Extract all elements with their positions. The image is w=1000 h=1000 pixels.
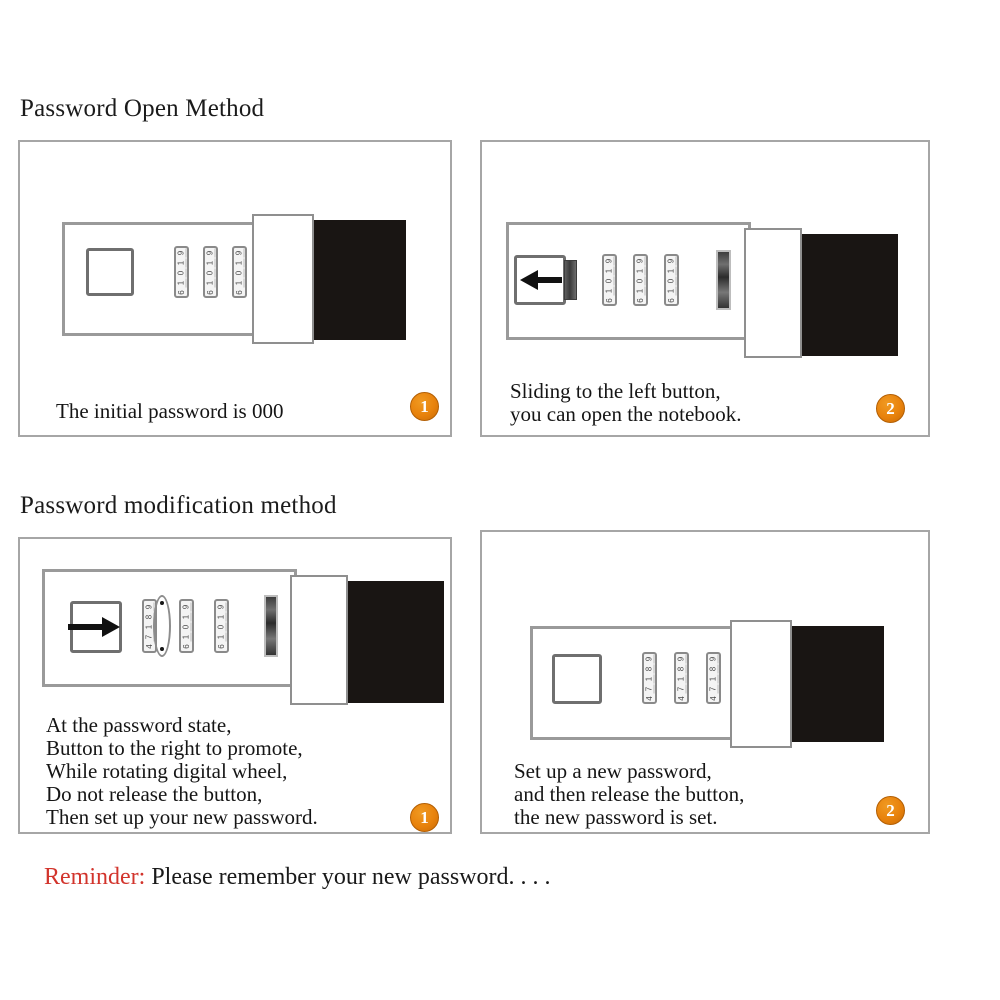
dial-digit: 9: [235, 248, 245, 257]
notebook-cover-black: [310, 220, 406, 340]
dial-digit: 9: [145, 602, 155, 611]
dial-digit: 6: [605, 296, 614, 305]
dial-digit: 1: [235, 258, 245, 267]
dial-digit: 6: [206, 288, 215, 297]
dial-digit: 4: [645, 694, 654, 703]
panel-caption: Set up a new password, and then release …: [514, 760, 744, 829]
panel-step-1-modify-password: 9 8 1 7 4 9 1 0 1 6 9 1 0 1 6: [18, 537, 452, 834]
dial-digit: 0: [177, 268, 187, 277]
dial-digit: 1: [709, 674, 719, 683]
dial-digit: 8: [677, 664, 687, 673]
dial-digit: 7: [677, 684, 687, 693]
notebook-cover-black: [788, 626, 884, 742]
dial-digit: 6: [217, 642, 226, 651]
dial-digit: 1: [177, 258, 187, 267]
lock-illustration-panel-2: 9 1 0 1 6 9 1 0 1 6 9 1 0 1 6: [506, 222, 916, 357]
notebook-cover-white-band: [730, 620, 792, 748]
dial-digit: 9: [667, 256, 677, 265]
notebook-cover-white-band: [252, 214, 314, 344]
step-badge-1: 1: [410, 803, 439, 832]
lock-latch-bar: [716, 250, 731, 310]
dial-digit: 1: [605, 286, 615, 295]
lock-illustration-panel-1: 9 1 0 1 6 9 1 0 1 6 9 1 0 1 6: [62, 214, 422, 344]
lock-illustration-panel-3: 9 8 1 7 4 9 1 0 1 6 9 1 0 1 6: [42, 569, 452, 704]
lock-slide-button[interactable]: [86, 248, 134, 296]
dial-digit: 8: [645, 664, 655, 673]
dial-digit: 7: [709, 684, 719, 693]
reminder-label: Reminder:: [44, 864, 145, 890]
dial-digit: 0: [667, 276, 677, 285]
panel-step-2-slide-left: 9 1 0 1 6 9 1 0 1 6 9 1 0 1 6 Slidi: [480, 140, 930, 437]
panel-step-1-initial-password: 9 1 0 1 6 9 1 0 1 6 9 1 0 1 6 The initia…: [18, 140, 452, 437]
panel-step-2-new-password-set: 9 8 1 7 4 9 8 1 7 4 9 8 1 7 4 Set up a n…: [480, 530, 930, 834]
dial-wheel-2[interactable]: 9 1 0 1 6: [633, 254, 648, 306]
arrow-shaft: [68, 624, 104, 630]
dial-digit: 1: [645, 674, 655, 683]
dial-digit: 1: [235, 278, 245, 287]
dial-digit: 6: [235, 288, 244, 297]
dial-digit: 9: [217, 602, 227, 611]
step-badge-2: 2: [876, 796, 905, 825]
dial-wheel-1[interactable]: 9 1 0 1 6: [602, 254, 617, 306]
dial-digit: 4: [145, 642, 154, 651]
dial-digit: 9: [709, 654, 719, 663]
lock-illustration-panel-4: 9 8 1 7 4 9 8 1 7 4 9 8 1 7 4: [530, 620, 890, 748]
section-title-password-modification-method: Password modification method: [20, 492, 337, 520]
dial-digit: 6: [182, 642, 191, 651]
dial-digit: 9: [177, 248, 187, 257]
dial-digit: 1: [667, 286, 677, 295]
step-badge-2: 2: [876, 394, 905, 423]
rotation-dot-bottom: [160, 647, 164, 651]
dial-digit: 1: [677, 674, 687, 683]
dial-wheel-2[interactable]: 9 8 1 7 4: [674, 652, 689, 704]
notebook-cover-white-band: [744, 228, 802, 358]
step-badge-1: 1: [410, 392, 439, 421]
dial-digit: 1: [217, 612, 227, 621]
reminder-note: Reminder: Please remember your new passw…: [44, 864, 551, 891]
dial-digit: 0: [636, 276, 646, 285]
dial-wheel-1[interactable]: 9 8 1 7 4: [642, 652, 657, 704]
lock-slide-button[interactable]: [552, 654, 602, 704]
notebook-cover-black: [344, 581, 444, 703]
dial-digit: 0: [605, 276, 615, 285]
dial-digit: 9: [645, 654, 655, 663]
dial-digit: 9: [605, 256, 615, 265]
dial-digit: 9: [636, 256, 646, 265]
dial-wheel-3[interactable]: 9 8 1 7 4: [706, 652, 721, 704]
dial-wheel-3[interactable]: 9 1 0 1 6: [232, 246, 247, 298]
dial-digit: 8: [709, 664, 719, 673]
arrow-left-icon: [520, 270, 538, 290]
dial-digit: 1: [636, 266, 646, 275]
notebook-cover-black: [798, 234, 898, 356]
dial-digit: 6: [177, 288, 186, 297]
dial-digit: 6: [667, 296, 676, 305]
lock-latch-bar: [264, 595, 278, 657]
dial-wheel-2[interactable]: 9 1 0 1 6: [179, 599, 194, 653]
dial-wheel-3[interactable]: 9 1 0 1 6: [664, 254, 679, 306]
dial-digit: 0: [206, 268, 216, 277]
panel-caption: The initial password is 000: [56, 400, 283, 423]
dial-digit: 1: [206, 258, 216, 267]
notebook-cover-white-band: [290, 575, 348, 705]
dial-wheel-1[interactable]: 9 1 0 1 6: [174, 246, 189, 298]
dial-digit: 7: [645, 684, 655, 693]
dial-digit: 1: [217, 632, 227, 641]
dial-digit: 1: [182, 612, 192, 621]
dial-digit: 4: [709, 694, 718, 703]
dial-digit: 1: [605, 266, 615, 275]
dial-digit: 1: [667, 266, 677, 275]
section-title-password-open-method: Password Open Method: [20, 95, 264, 123]
arrow-right-icon: [102, 617, 120, 637]
dial-digit: 9: [677, 654, 687, 663]
dial-digit: 4: [677, 694, 686, 703]
dial-digit: 1: [636, 286, 646, 295]
dial-digit: 1: [177, 278, 187, 287]
dial-wheel-3[interactable]: 9 1 0 1 6: [214, 599, 229, 653]
panel-caption: At the password state, Button to the rig…: [46, 714, 318, 829]
dial-digit: 1: [182, 632, 192, 641]
panel-caption: Sliding to the left button, you can open…: [510, 380, 742, 426]
dial-digit: 6: [636, 296, 645, 305]
dial-wheel-2[interactable]: 9 1 0 1 6: [203, 246, 218, 298]
dial-digit: 1: [206, 278, 216, 287]
dial-digit: 9: [206, 248, 216, 257]
dial-digit: 0: [182, 622, 192, 631]
slide-button-grip[interactable]: [564, 260, 577, 300]
dial-digit: 0: [217, 622, 227, 631]
rotation-dot-top: [160, 601, 164, 605]
instruction-sheet: Password Open Method 9 1 0 1 6 9 1 0: [0, 0, 1000, 1000]
reminder-text: Please remember your new password. . . .: [145, 864, 550, 890]
dial-digit: 0: [235, 268, 245, 277]
dial-digit: 9: [182, 602, 192, 611]
